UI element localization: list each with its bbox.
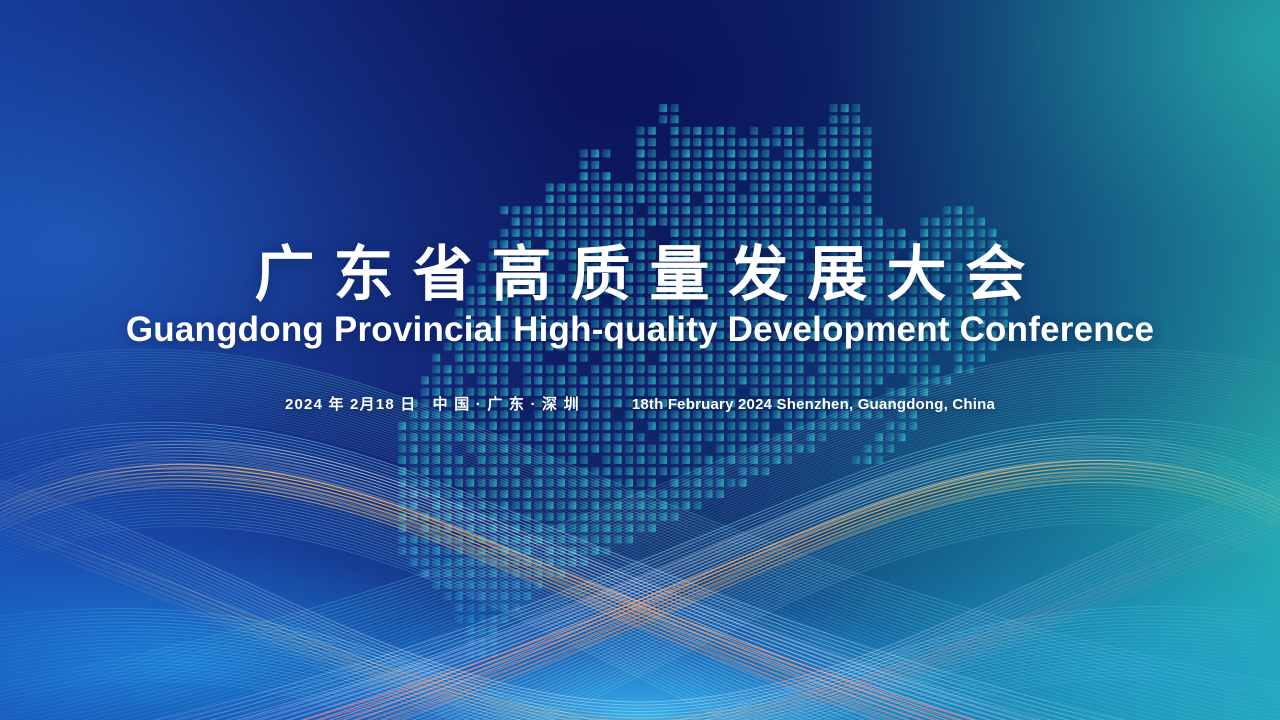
event-meta-row: 2024 年 2月18 日 中 国 · 广 东 · 深 圳 18th Febru…	[285, 395, 995, 415]
conference-title-en: Guangdong Provincial High-quality Develo…	[126, 309, 1154, 351]
headline-block: 广东省高质量发展大会 Guangdong Provincial High-qua…	[0, 0, 1280, 470]
conference-banner: 广东省高质量发展大会 Guangdong Provincial High-qua…	[0, 0, 1280, 720]
conference-title-cn: 广东省高质量发展大会	[236, 243, 1045, 307]
event-date-location-cn: 2024 年 2月18 日 中 国 · 广 东 · 深 圳	[285, 395, 580, 415]
event-date-location-en: 18th February 2024 Shenzhen, Guangdong, …	[632, 395, 995, 415]
